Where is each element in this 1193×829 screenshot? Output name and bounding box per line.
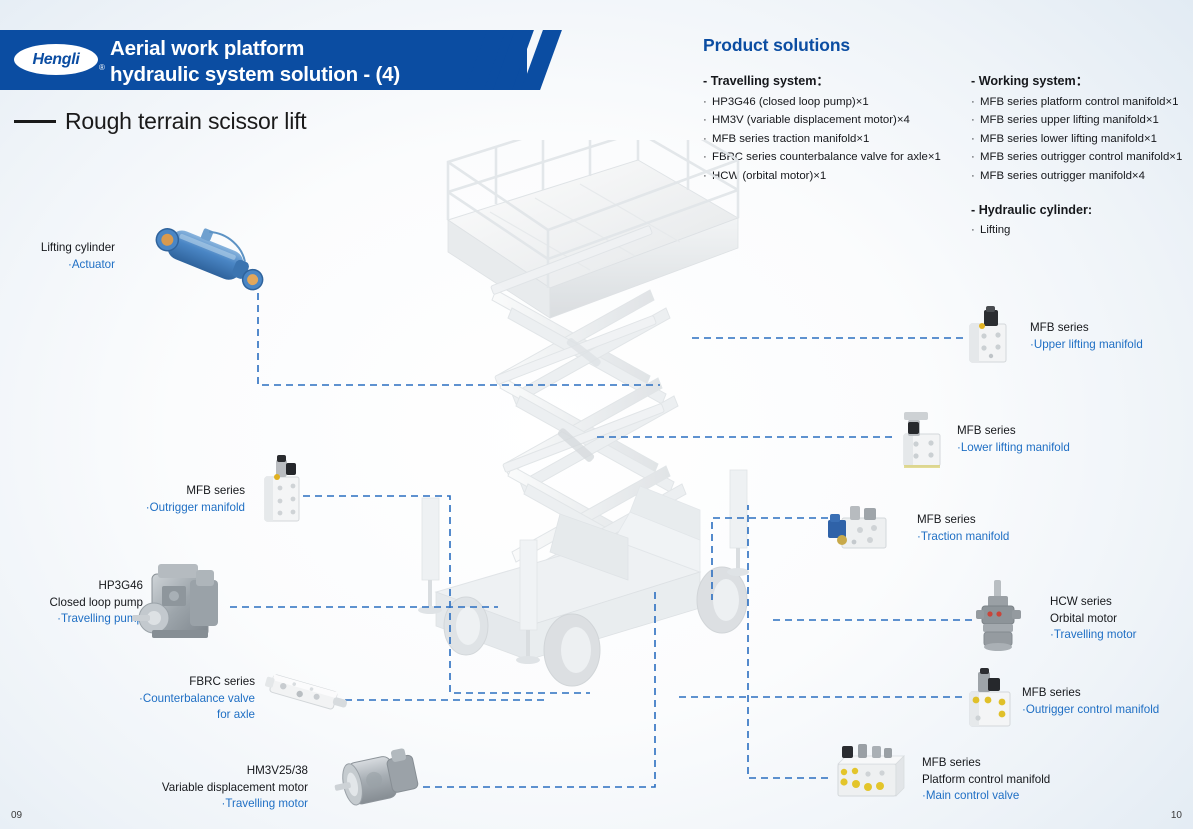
product-item-label: MFB series upper lifting manifold×1 — [980, 114, 1159, 126]
group-heading: - Working system： — [971, 70, 1193, 89]
callout-line: Closed loop pump — [0, 595, 143, 612]
product-item: ·HM3V (variable displacement motor)×4 — [703, 111, 968, 129]
subtitle-text: Rough terrain scissor lift — [65, 108, 307, 135]
callout-orbital-motor: HCW series Orbital motor ·Travelling mot… — [1050, 594, 1137, 644]
product-solutions-title: Product solutions — [703, 35, 850, 56]
product-item: ·MFB series platform control manifold×1 — [971, 93, 1193, 111]
page-number-right: 10 — [1171, 810, 1182, 821]
callout-accent: ·Travelling pump — [0, 611, 143, 628]
product-item-label: MFB series platform control manifold×1 — [980, 96, 1178, 108]
callout-line: Variable displacement motor — [78, 780, 308, 797]
group-heading: - Travelling system： — [703, 70, 968, 89]
callout-outrigger-control-manifold: MFB series ·Outrigger control manifold — [1022, 685, 1159, 718]
counterbalance-valve-image — [262, 672, 352, 716]
upper-lifting-manifold-image — [962, 306, 1014, 368]
callout-line: MFB series — [60, 483, 245, 500]
callout-accent: ·Counterbalance valve — [60, 691, 255, 708]
product-item-label: MFB series outrigger control manifold×1 — [980, 151, 1182, 163]
callout-closed-loop-pump: HP3G46 Closed loop pump ·Travelling pump — [0, 578, 143, 628]
callout-traction-manifold: MFB series ·Traction manifold — [917, 512, 1009, 545]
callout-line: MFB series — [917, 512, 1009, 529]
platform-control-manifold-image — [824, 742, 910, 806]
callout-platform-control-manifold: MFB series Platform control manifold ·Ma… — [922, 755, 1050, 805]
product-item: ·HP3G46 (closed loop pump)×1 — [703, 93, 968, 111]
title-line-2: hydraulic system solution - (4) — [110, 62, 400, 88]
product-item-label: MFB series lower lifting manifold×1 — [980, 133, 1157, 145]
callout-line: Platform control manifold — [922, 772, 1050, 789]
product-item-label: Lifting — [980, 224, 1010, 236]
lifting-cylinder-image — [140, 222, 280, 292]
title-line-1: Aerial work platform — [110, 36, 400, 62]
subtitle-row: Rough terrain scissor lift — [14, 108, 307, 135]
callout-accent: ·Lower lifting manifold — [957, 440, 1070, 457]
product-item: ·MFB series lower lifting manifold×1 — [971, 130, 1193, 148]
callout-lifting-cylinder: Lifting cylinder ·Actuator — [0, 240, 115, 273]
product-item: ·MFB series outrigger manifold×4 — [971, 167, 1193, 185]
product-item-label: HM3V (variable displacement motor)×4 — [712, 114, 910, 126]
callout-outrigger-manifold: MFB series ·Outrigger manifold — [60, 483, 245, 516]
traction-manifold-image — [826, 502, 894, 556]
chevron-stripes-icon — [476, 30, 596, 90]
callout-line: HM3V25/38 — [78, 763, 308, 780]
subtitle-dash-icon — [14, 120, 56, 123]
product-item-label: HP3G46 (closed loop pump)×1 — [712, 96, 869, 108]
variable-displacement-motor-image — [330, 748, 426, 810]
callout-line: Lifting cylinder — [0, 240, 115, 257]
page-title: Aerial work platform hydraulic system so… — [110, 36, 400, 87]
callout-line: MFB series — [1022, 685, 1159, 702]
group-heading: - Hydraulic cylinder: — [971, 203, 1193, 217]
callout-accent: ·Actuator — [0, 257, 115, 274]
scissor-lift-illustration — [400, 140, 780, 700]
orbital-motor-image — [970, 578, 1028, 654]
header-bar: Hengli ® Aerial work platform hydraulic … — [0, 30, 527, 90]
callout-accent: ·Outrigger manifold — [60, 500, 245, 517]
callout-line: MFB series — [1030, 320, 1143, 337]
callout-counterbalance-valve: FBRC series ·Counterbalance valve for ax… — [60, 674, 255, 724]
page-number-left: 09 — [11, 810, 22, 821]
callout-line: Orbital motor — [1050, 611, 1137, 628]
callout-accent-2: for axle — [60, 707, 255, 724]
closed-loop-pump-image — [128, 560, 232, 650]
callout-line: MFB series — [922, 755, 1050, 772]
callout-accent: ·Upper lifting manifold — [1030, 337, 1143, 354]
callout-line: FBRC series — [60, 674, 255, 691]
callout-line: MFB series — [957, 423, 1070, 440]
product-group-working: - Working system： ·MFB series platform c… — [971, 70, 1193, 185]
callout-line: HP3G46 — [0, 578, 143, 595]
callout-accent: ·Main control valve — [922, 788, 1050, 805]
logo-registered-mark: ® — [99, 63, 105, 72]
callout-upper-lifting-manifold: MFB series ·Upper lifting manifold — [1030, 320, 1143, 353]
lower-lifting-manifold-image — [890, 408, 948, 470]
callout-variable-displacement-motor: HM3V25/38 Variable displacement motor ·T… — [78, 763, 308, 813]
callout-accent: ·Travelling motor — [78, 796, 308, 813]
outrigger-manifold-image — [255, 455, 307, 525]
callout-accent: ·Outrigger control manifold — [1022, 702, 1159, 719]
callout-lower-lifting-manifold: MFB series ·Lower lifting manifold — [957, 423, 1070, 456]
product-item: ·MFB series outrigger control manifold×1 — [971, 148, 1193, 166]
product-item-label: MFB series outrigger manifold×4 — [980, 170, 1145, 182]
callout-line: HCW series — [1050, 594, 1137, 611]
product-group-hydraulic-cylinder: - Hydraulic cylinder: ·Lifting — [971, 203, 1193, 239]
hengli-logo: Hengli — [14, 44, 98, 75]
logo-text: Hengli — [32, 52, 79, 68]
outrigger-control-manifold-image — [958, 668, 1018, 730]
callout-accent: ·Travelling motor — [1050, 627, 1137, 644]
product-item: ·MFB series upper lifting manifold×1 — [971, 111, 1193, 129]
product-item: ·Lifting — [971, 221, 1193, 239]
page-root: Hengli ® Aerial work platform hydraulic … — [0, 0, 1193, 829]
product-solutions-column-right: - Working system： ·MFB series platform c… — [971, 70, 1193, 253]
callout-accent: ·Traction manifold — [917, 529, 1009, 546]
